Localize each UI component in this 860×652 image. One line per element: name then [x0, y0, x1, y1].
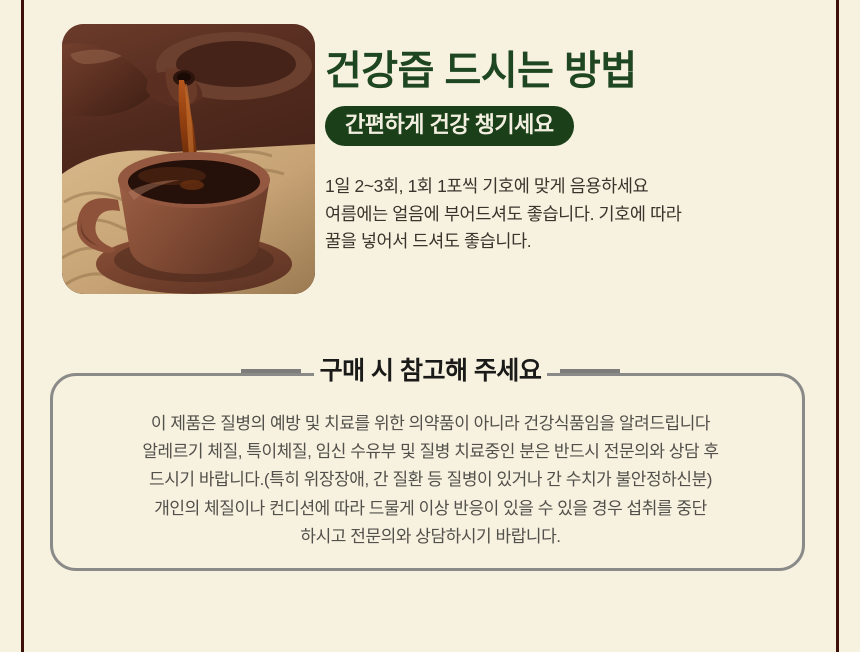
notice-dash-right-icon: [560, 369, 620, 373]
usage-line: 1일 2~3회, 1회 1포씩 기호에 맞게 음용하세요: [325, 173, 825, 200]
subtitle-badge: 간편하게 건강 챙기세요: [325, 106, 574, 146]
teapot-pouring-photo: [62, 24, 315, 294]
page-right-rule: [836, 0, 839, 652]
notice-line: 드시기 바랍니다.(특히 위장장애, 간 질환 등 질병이 있거나 간 수치가 …: [53, 466, 808, 494]
notice-dash-left-icon: [241, 369, 301, 373]
notice-heading: 구매 시 참고해 주세요: [314, 356, 548, 386]
page-title: 건강즙 드시는 방법: [325, 48, 825, 95]
notice-body: 이 제품은 질병의 예방 및 치료를 위한 의약품이 아니라 건강식품임을 알려…: [53, 410, 808, 551]
headline-block: 건강즙 드시는 방법 간편하게 건강 챙기세요 1일 2~3회, 1회 1포씩 …: [325, 48, 825, 255]
notice-heading-wrap: 구매 시 참고해 주세요: [53, 356, 808, 386]
hero-section: 건강즙 드시는 방법 간편하게 건강 챙기세요 1일 2~3회, 1회 1포씩 …: [24, 0, 836, 320]
notice-line: 알레르기 체질, 특이체질, 임신 수유부 및 질병 치료중인 분은 반드시 전…: [53, 438, 808, 466]
notice-line: 개인의 체질이나 컨디션에 따라 드물게 이상 반응이 있을 수 있을 경우 섭…: [53, 495, 808, 523]
usage-line: 꿀을 넣어서 드셔도 좋습니다.: [325, 228, 825, 255]
notice-line: 하시고 전문의와 상담하시기 바랍니다.: [53, 523, 808, 551]
purchase-notice-box: 구매 시 참고해 주세요 이 제품은 질병의 예방 및 치료를 위한 의약품이 …: [50, 373, 805, 571]
page-content: 건강즙 드시는 방법 간편하게 건강 챙기세요 1일 2~3회, 1회 1포씩 …: [24, 0, 836, 652]
notice-line: 이 제품은 질병의 예방 및 치료를 위한 의약품이 아니라 건강식품임을 알려…: [53, 410, 808, 438]
usage-instructions: 1일 2~3회, 1회 1포씩 기호에 맞게 음용하세요 여름에는 얼음에 부어…: [325, 173, 825, 254]
usage-line: 여름에는 얼음에 부어드셔도 좋습니다. 기호에 따라: [325, 201, 825, 228]
